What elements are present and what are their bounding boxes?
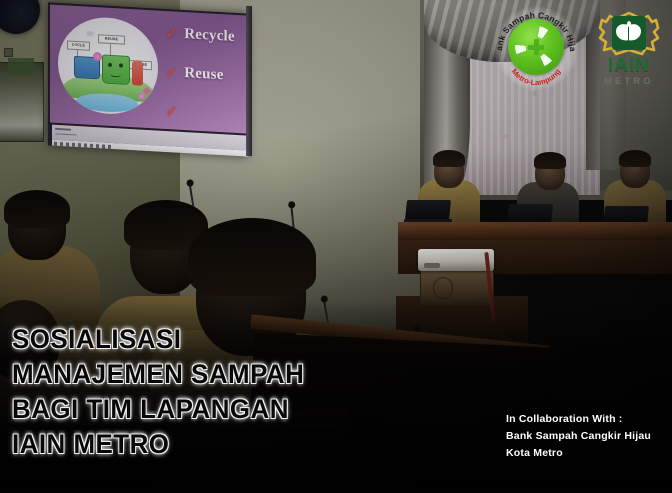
title-line-3: BAGI TIM LAPANGAN [12, 392, 304, 427]
logo-arc-text: Bank Sampah Cangkir Hijau Metro-Lampung [494, 6, 578, 90]
slide-bullet-recycle: ✓ Recycle [164, 25, 235, 46]
logo-arc-bottom-label: Metro-Lampung [510, 67, 563, 87]
butterfly-icon [86, 31, 94, 37]
title-line-1: SOSIALISASI [12, 322, 304, 357]
projector-device [418, 249, 494, 271]
green-bin-character-icon [102, 54, 130, 85]
collaboration-block: In Collaboration With : Bank Sampah Cang… [506, 411, 651, 462]
red-bottle-icon [132, 60, 143, 86]
iain-metro-logo: IAIN METRO [592, 10, 666, 92]
check-icon: ✓ [165, 24, 178, 43]
logo-metro-label: METRO [592, 76, 666, 86]
event-photograph: CYCLE REUSE REUSE ✓ Recycle ✓ [0, 0, 672, 493]
laptop [507, 204, 553, 224]
projection-screen: CYCLE REUSE REUSE ✓ Recycle ✓ [48, 2, 248, 156]
logo-arc-top-label: Bank Sampah Cangkir Hijau [494, 6, 578, 52]
logo-iain-label: IAIN [592, 56, 666, 76]
projection-screen-edge [246, 6, 252, 156]
collaboration-heading: In Collaboration With : [506, 411, 651, 428]
svg-text:Metro-Lampung: Metro-Lampung [510, 67, 563, 87]
overlay-title-block: SOSIALISASI MANAJEMEN SAMPAH BAGI TIM LA… [12, 322, 317, 462]
slide-bullet-label: Reuse [184, 65, 223, 84]
laptop [405, 200, 451, 220]
bank-sampah-cangkir-hijau-logo: Bank Sampah Cangkir Hijau Metro-Lampung [494, 6, 578, 90]
notice-board-green-panel [8, 58, 34, 74]
collaboration-city: Kota Metro [506, 445, 651, 462]
flower-icon [93, 52, 102, 62]
check-icon: ✓ [165, 63, 178, 82]
presentation-slide: CYCLE REUSE REUSE ✓ Recycle ✓ [50, 5, 246, 134]
slide-bullet-reuse: ✓ Reuse [164, 64, 224, 84]
check-icon: ✓ [165, 102, 178, 121]
notice-board [0, 62, 44, 142]
book-spine [627, 21, 631, 27]
slide-illustration: CYCLE REUSE REUSE [58, 15, 158, 117]
title-line-2: MANAJEMEN SAMPAH [12, 357, 304, 392]
collaboration-partner: Bank Sampah Cangkir Hijau [506, 428, 651, 445]
slide-bullet-third: ✓ [164, 103, 184, 121]
title-line-4: IAIN METRO [12, 427, 304, 462]
flower-icon [138, 92, 145, 99]
slide-bullet-label: Recycle [184, 26, 235, 46]
slide-sign-cycle: CYCLE [67, 40, 90, 50]
slide-sign-reuse-1: REUSE [98, 34, 125, 45]
svg-text:Bank Sampah Cangkir Hijau: Bank Sampah Cangkir Hijau [494, 6, 578, 52]
panel-table [398, 222, 672, 242]
cardboard-box [420, 268, 494, 306]
light-switch [4, 48, 13, 57]
